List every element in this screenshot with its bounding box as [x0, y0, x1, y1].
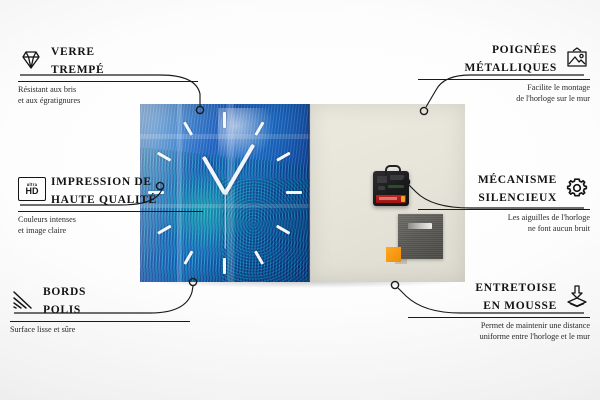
feature-title-line2: HAUTE QUALITÉ: [51, 194, 157, 206]
feature-title-line2: MÉTALLIQUES: [465, 62, 557, 74]
feature-description: Résistant aux bris et aux égratignures: [18, 85, 198, 106]
feature-entretoise-en-mousse[interactable]: ENTRETOISE EN MOUSSE Permet de maintenir…: [408, 278, 590, 342]
feature-poignees-metalliques[interactable]: POIGNÉES MÉTALLIQUES Facilite le montage…: [418, 40, 590, 104]
infographic-canvas: VERRE TREMPÉ Résistant aux bris et aux é…: [0, 0, 600, 400]
feature-header: BORDS POLIS: [10, 282, 190, 318]
feature-header: ENTRETOISE EN MOUSSE: [408, 278, 590, 314]
feature-description: Couleurs intenses et image claire: [18, 215, 203, 236]
feature-rule: [418, 209, 590, 210]
hour-marker: [223, 112, 226, 128]
feature-header: VERRE TREMPÉ: [18, 42, 198, 78]
second-hand: [224, 194, 225, 249]
feature-title: IMPRESSION DE HAUTE QUALITÉ: [51, 172, 157, 208]
feature-description: Facilite le montage de l'horloge sur le …: [418, 83, 590, 104]
feature-rule: [408, 317, 590, 318]
feature-verre-trempe[interactable]: VERRE TREMPÉ Résistant aux bris et aux é…: [18, 42, 198, 106]
feature-title-line1: MÉCANISME: [478, 174, 557, 186]
mechanism-detail: [388, 185, 404, 188]
mechanism-detail: [378, 186, 385, 190]
clock-center-cap: [223, 190, 228, 195]
panel-edge-seam: [308, 104, 311, 282]
hd-badge-big-text: HD: [26, 187, 39, 197]
feature-header: MÉCANISME SILENCIEUX: [418, 170, 590, 206]
feature-desc-line1: Résistant aux bris: [18, 85, 76, 94]
feature-header: ultra HD IMPRESSION DE HAUTE QUALITÉ: [18, 172, 203, 208]
feature-desc-line2: et aux égratignures: [18, 96, 80, 105]
feature-title-line2: SILENCIEUX: [478, 192, 557, 204]
feature-rule: [10, 321, 190, 322]
feature-desc-line1: Facilite le montage: [527, 83, 590, 92]
feature-title-line1: VERRE: [51, 46, 95, 58]
feature-rule: [18, 211, 203, 212]
feature-rule: [18, 81, 198, 82]
hour-marker: [286, 191, 302, 194]
foam-spacer: [386, 247, 401, 262]
feature-desc-line1: Couleurs intenses: [18, 215, 76, 224]
feature-title: VERRE TREMPÉ: [51, 42, 104, 78]
feature-header: POIGNÉES MÉTALLIQUES: [418, 40, 590, 76]
feature-mecanisme-silencieux[interactable]: MÉCANISME SILENCIEUX Les aiguilles de l'…: [418, 170, 590, 234]
feature-desc-line1: Surface lisse et sûre: [10, 325, 75, 334]
feature-desc-line1: Permet de maintenir une distance: [481, 321, 590, 330]
feature-title: POIGNÉES MÉTALLIQUES: [465, 40, 557, 76]
feature-title: BORDS POLIS: [43, 282, 86, 318]
diamond-icon: [18, 47, 44, 73]
feature-title-line1: POIGNÉES: [492, 44, 557, 56]
polished-edges-icon: [10, 287, 36, 313]
feature-title-line1: BORDS: [43, 286, 86, 298]
feature-impression-haute-qualite[interactable]: ultra HD IMPRESSION DE HAUTE QUALITÉ Cou…: [18, 172, 203, 236]
feature-title-line2: EN MOUSSE: [483, 300, 557, 312]
ultra-hd-badge-icon: ultra HD: [18, 177, 44, 203]
feature-title: MÉCANISME SILENCIEUX: [478, 170, 557, 206]
feature-desc-line2: de l'horloge sur le mur: [516, 94, 590, 103]
feature-bords-polis[interactable]: BORDS POLIS Surface lisse et sûre: [10, 282, 190, 336]
feature-desc-line2: ne font aucun bruit: [528, 224, 590, 233]
clock-mechanism: [373, 171, 409, 206]
feature-description: Surface lisse et sûre: [10, 325, 190, 336]
battery: [376, 195, 406, 203]
feature-title-line2: POLIS: [43, 304, 81, 316]
feature-desc-line2: uniforme entre l'horloge et le mur: [480, 332, 590, 341]
battery-positive-terminal: [401, 196, 405, 202]
feature-description: Permet de maintenir une distance uniform…: [408, 321, 590, 342]
feature-desc-line2: et image claire: [18, 226, 66, 235]
battery-label: [379, 197, 397, 200]
foam-spacer-icon: [564, 283, 590, 309]
feature-title: ENTRETOISE EN MOUSSE: [475, 278, 557, 314]
feature-rule: [418, 79, 590, 80]
feature-title-line2: TREMPÉ: [51, 64, 104, 76]
mechanism-detail: [377, 176, 387, 183]
mechanism-detail: [390, 175, 404, 180]
feature-description: Les aiguilles de l'horloge ne font aucun…: [418, 213, 590, 234]
feature-title-line1: IMPRESSION DE: [51, 176, 152, 188]
picture-hanger-icon: [564, 45, 590, 71]
gear-icon: [564, 175, 590, 201]
hour-marker: [223, 258, 226, 274]
feature-desc-line1: Les aiguilles de l'horloge: [508, 213, 590, 222]
feature-title-line1: ENTRETOISE: [475, 282, 557, 294]
